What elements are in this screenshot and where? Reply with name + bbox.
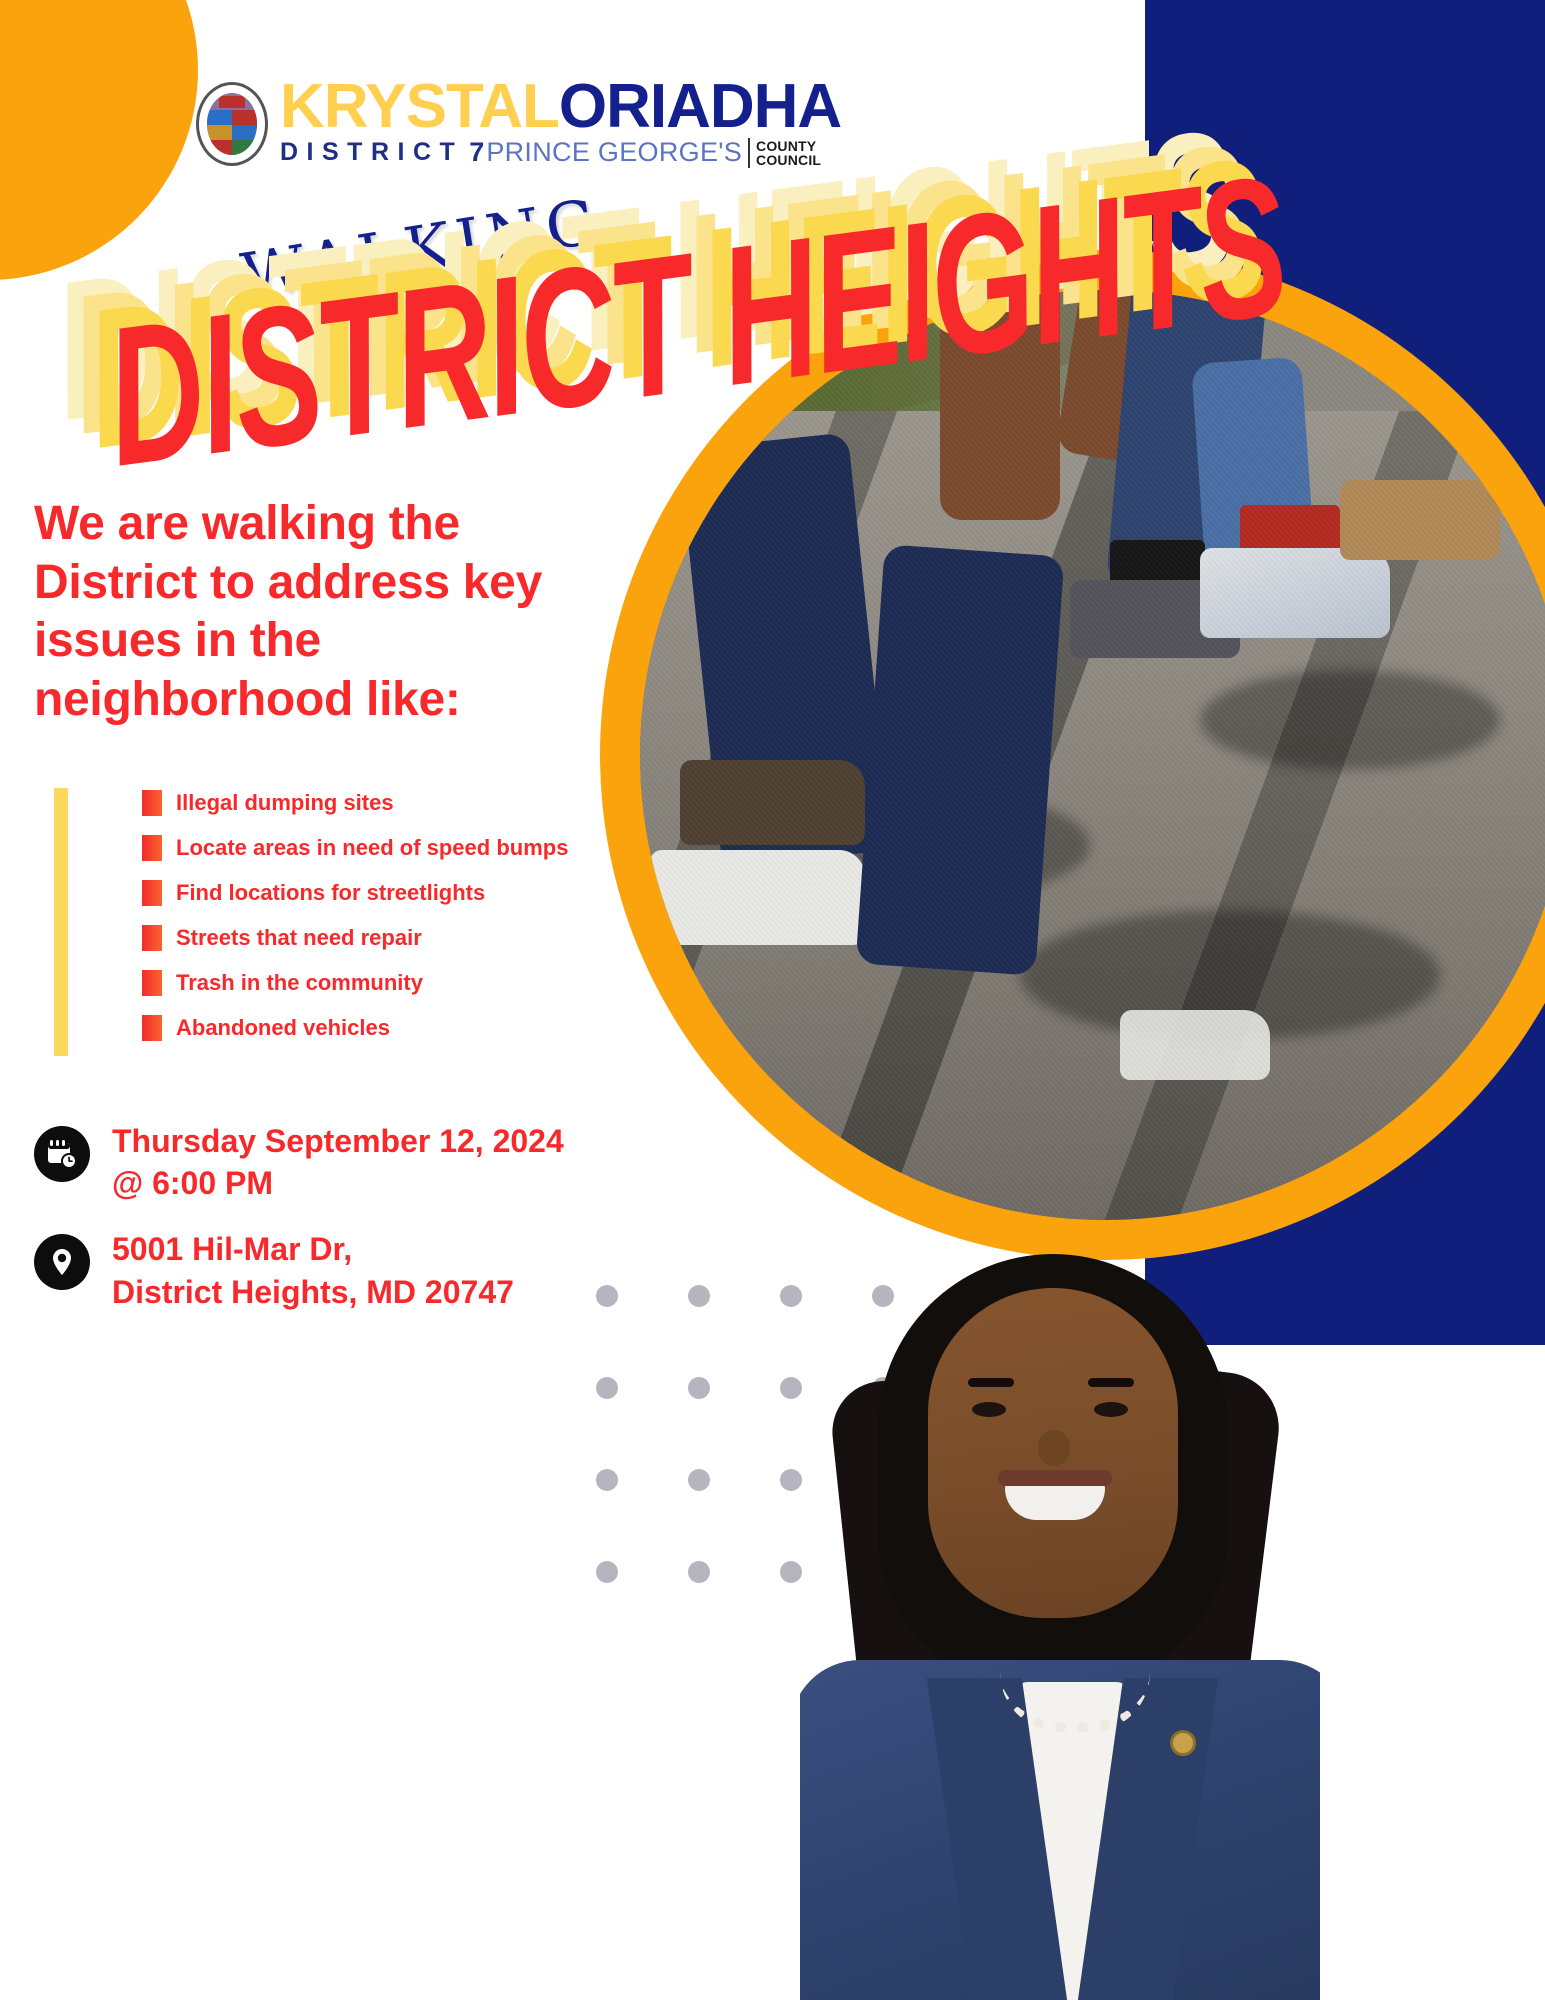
dot-decoration [780,1469,802,1491]
issue-list-item-label: Abandoned vehicles [176,1015,390,1041]
issue-list-item: Locate areas in need of speed bumps [142,825,568,870]
calendar-clock-icon [34,1126,90,1182]
dot-decoration [688,1561,710,1583]
dot-decoration [688,1377,710,1399]
event-date-line2: @ 6:00 PM [112,1162,564,1204]
bullet-square-icon [142,970,162,996]
issue-list-item-label: Streets that need repair [176,925,422,951]
issue-list-item-label: Locate areas in need of speed bumps [176,835,568,861]
bullet-square-icon [142,925,162,951]
issue-list-item-label: Trash in the community [176,970,423,996]
event-address-line1: 5001 Hil-Mar Dr, [112,1228,514,1270]
headline-text: We are walking the District to address k… [34,495,594,729]
issue-list-item: Abandoned vehicles [142,1005,568,1050]
issue-list-item-label: Find locations for streetlights [176,880,485,906]
event-date-row: Thursday September 12, 2024 @ 6:00 PM [34,1120,674,1204]
dot-decoration [780,1377,802,1399]
dot-decoration [780,1285,802,1307]
bullet-square-icon [142,1015,162,1041]
issue-list-item: Illegal dumping sites [142,780,568,825]
issue-list-item-label: Illegal dumping sites [176,790,394,816]
issue-list-item: Streets that need repair [142,915,568,960]
yellow-accent-bar [54,788,68,1056]
event-location-row: 5001 Hil-Mar Dr, District Heights, MD 20… [34,1228,674,1312]
logo-first-name: KRYSTAL [280,72,559,141]
county-seal-icon [196,82,268,166]
dot-decoration [596,1377,618,1399]
event-details: Thursday September 12, 2024 @ 6:00 PM 50… [34,1120,674,1337]
issue-list-item: Find locations for streetlights [142,870,568,915]
event-date-line1: Thursday September 12, 2024 [112,1120,564,1162]
event-address-line2: District Heights, MD 20747 [112,1271,514,1313]
map-pin-icon [34,1234,90,1290]
bullet-square-icon [142,790,162,816]
issue-list-item: Trash in the community [142,960,568,1005]
logo-last-name: ORIADHA [559,72,841,141]
lapel-pin-icon [1170,1730,1196,1756]
dot-decoration [596,1561,618,1583]
logo-district-word: DISTRICT [280,138,463,167]
candidate-portrait [800,1230,1320,2000]
dot-decoration [596,1469,618,1491]
bullet-square-icon [142,835,162,861]
logo-district-number: 7 [469,137,484,168]
dot-decoration [688,1469,710,1491]
dot-decoration [688,1285,710,1307]
flyer-page: KRYSTALORIADHA DISTRICT 7 PRINCE GEORGE'… [0,0,1545,2000]
bullet-square-icon [142,880,162,906]
dot-decoration [780,1561,802,1583]
main-title: DISTRICT HEIGHTS DISTRICT HEIGHTS DISTRI… [40,270,1080,500]
